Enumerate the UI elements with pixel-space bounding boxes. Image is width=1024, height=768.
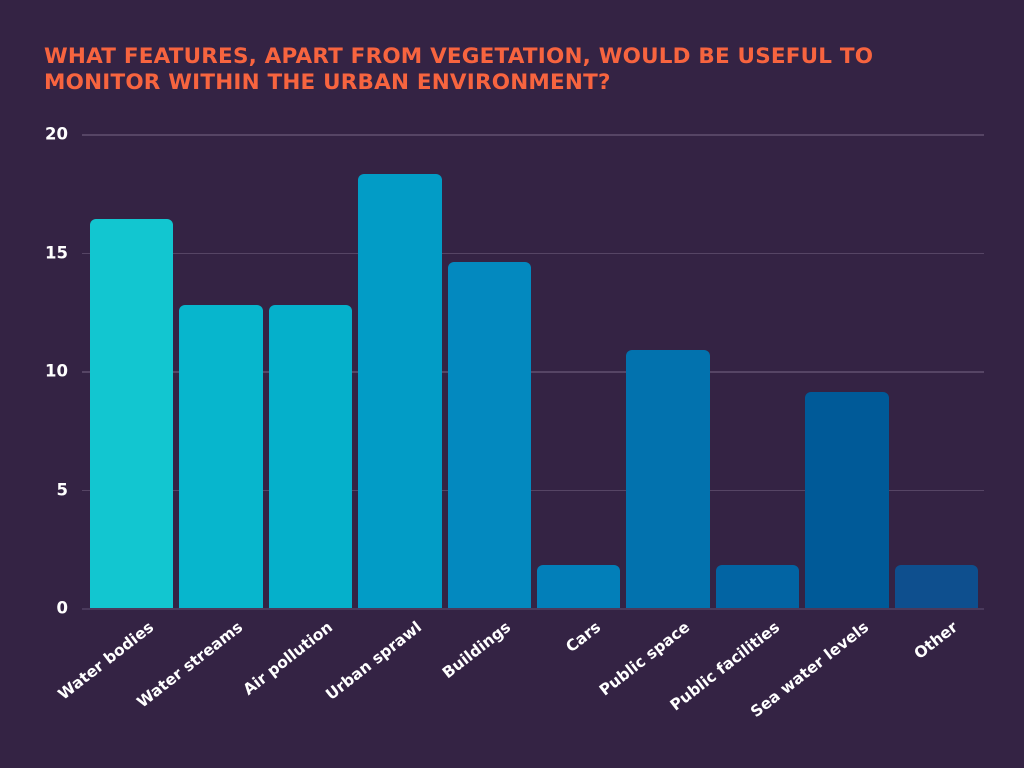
bar-water-streams[interactable] xyxy=(179,305,262,608)
bar-urban-sprawl[interactable] xyxy=(358,174,441,608)
bar-series xyxy=(0,0,894,768)
bar-public-facilities[interactable] xyxy=(716,565,799,608)
bar-sea-water-levels[interactable] xyxy=(805,392,888,608)
bar-air-pollution[interactable] xyxy=(269,305,352,608)
bar-buildings[interactable] xyxy=(448,262,531,608)
bar-other[interactable] xyxy=(895,565,978,608)
bar-water-bodies[interactable] xyxy=(90,219,173,608)
bar-cars[interactable] xyxy=(537,565,620,608)
bar-public-space[interactable] xyxy=(626,350,709,608)
